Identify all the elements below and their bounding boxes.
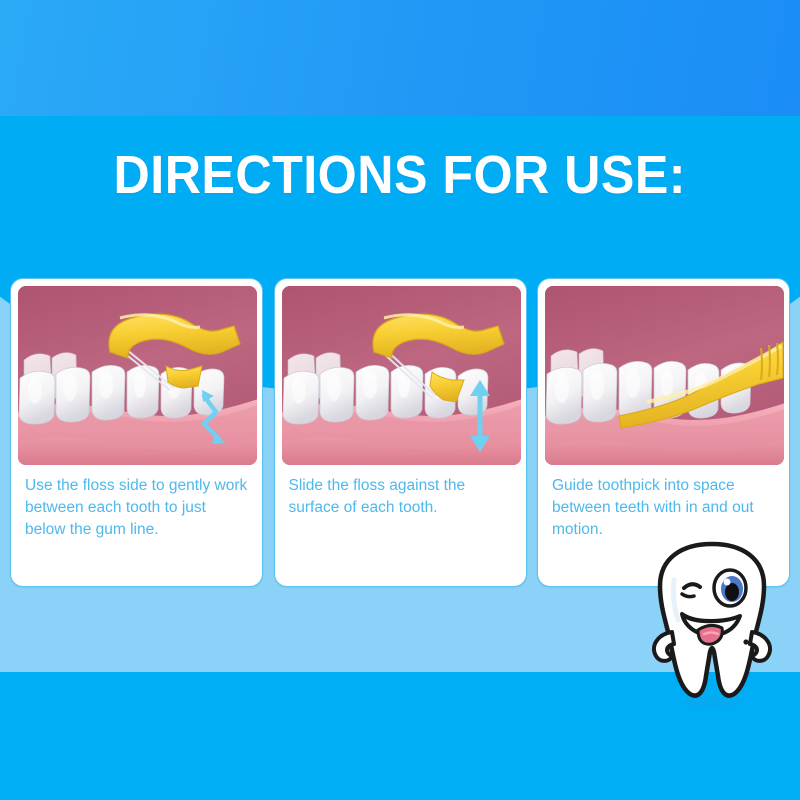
page-title-text: DIRECTIONS FOR USE: — [114, 148, 686, 202]
floss-pick-between-teeth-icon — [18, 286, 257, 465]
step-3-illustration — [545, 286, 784, 465]
step-2-caption: Slide the floss against the surface of e… — [282, 465, 519, 519]
winking-tooth-icon — [648, 536, 776, 708]
step-2-illustration — [282, 286, 521, 465]
toothpick-into-space-icon — [545, 286, 784, 465]
poster-canvas: DIRECTIONS FOR USE: — [0, 0, 800, 800]
step-1-illustration — [18, 286, 257, 465]
step-card-1[interactable]: Use the floss side to gently work betwee… — [10, 278, 263, 587]
floss-slide-surface-icon — [282, 286, 521, 465]
step-card-2[interactable]: Slide the floss against the surface of e… — [274, 278, 527, 587]
step-3-caption: Guide toothpick into space between teeth… — [545, 465, 782, 541]
step-1-caption: Use the floss side to gently work betwee… — [18, 465, 255, 541]
winking-tooth-mascot — [648, 536, 776, 708]
page-title: DIRECTIONS FOR USE: — [0, 140, 800, 210]
background-band-top — [0, 0, 800, 116]
